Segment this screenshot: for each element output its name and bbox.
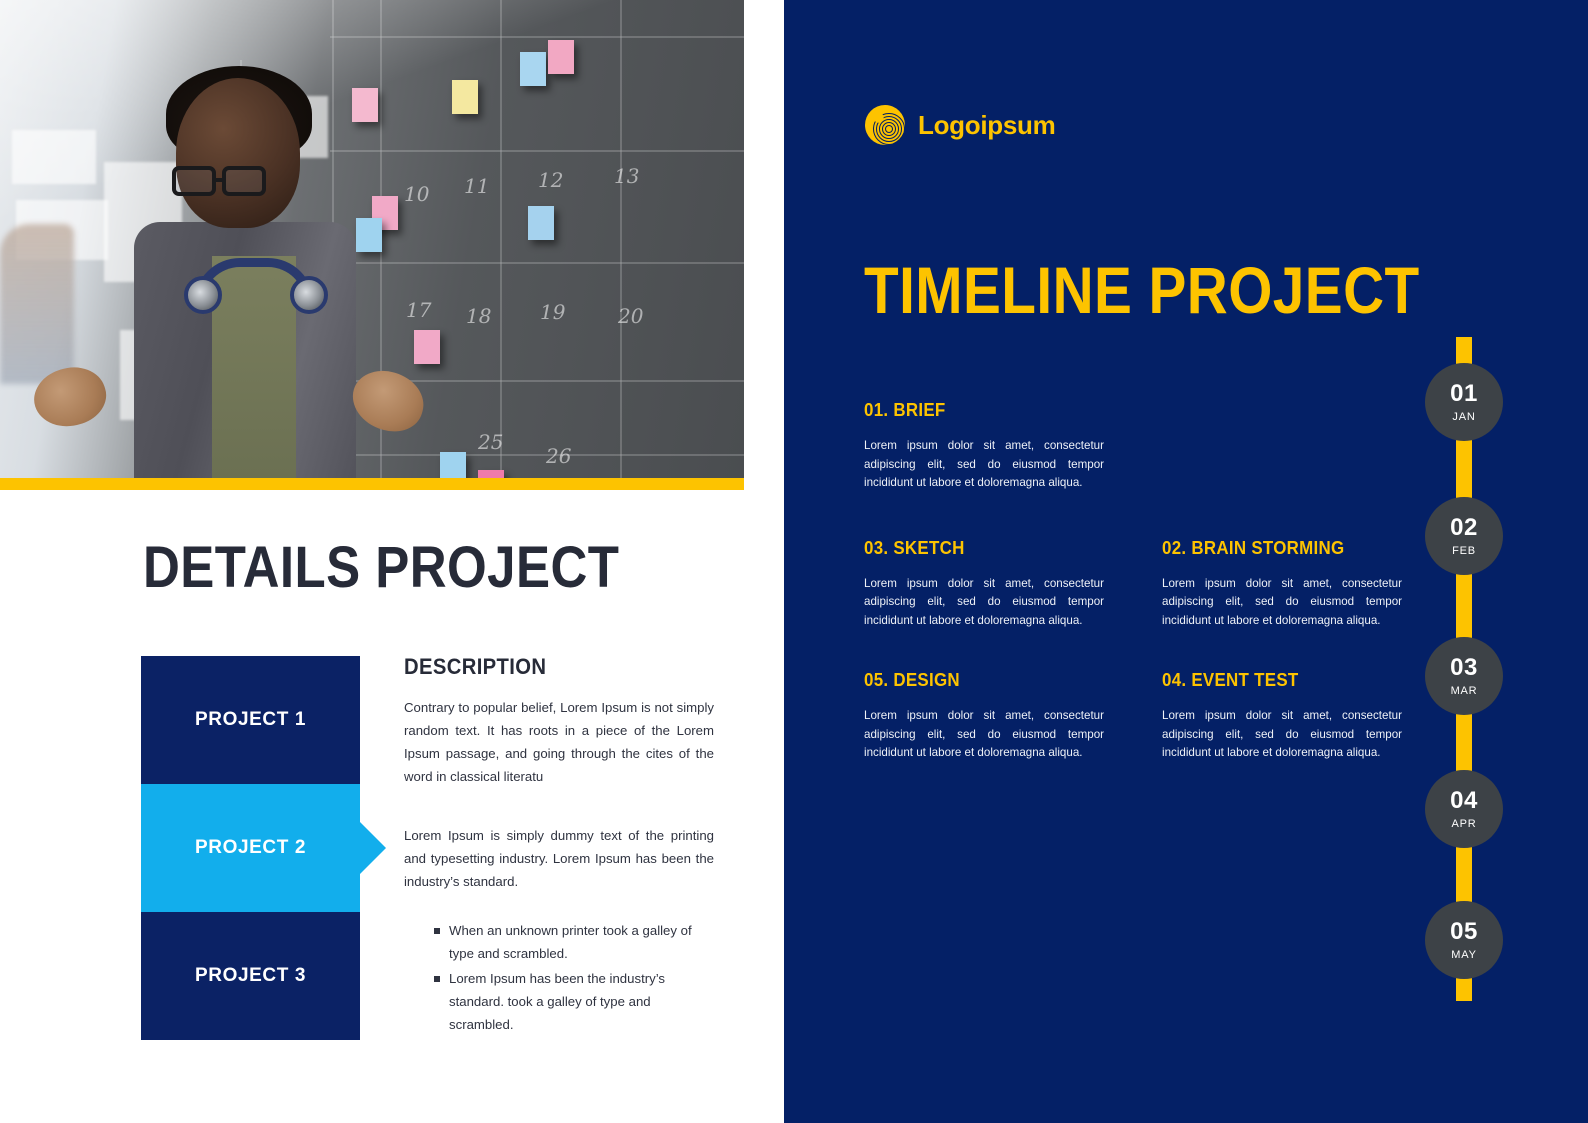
project-item-3[interactable]: PROJECT 3 (141, 912, 360, 1040)
milestone-01[interactable]: 01 JAN (1425, 363, 1503, 441)
milestone-month: FEB (1452, 545, 1476, 557)
glasses-icon (172, 166, 216, 196)
sticky-note (478, 470, 504, 478)
slide-title: TIMELINE PROJECT (864, 252, 1420, 328)
description-paragraph-2: Lorem Ipsum is simply dummy text of the … (404, 824, 714, 893)
phase-title: 03. SKETCH (864, 538, 1090, 559)
sticky-note (414, 330, 440, 364)
phase-title: 02. BRAIN STORMING (1162, 538, 1388, 559)
headphone-earcup (290, 276, 328, 314)
milestone-number: 05 (1450, 920, 1478, 944)
phase-body: Lorem ipsum dolor sit amet, consectetur … (1162, 707, 1402, 763)
slide-canvas: 10 11 12 13 17 18 19 20 25 26 (0, 0, 1588, 1123)
sticky-note (440, 452, 466, 478)
sticky-note (520, 52, 546, 86)
description-paragraph-1: Contrary to popular belief, Lorem Ipsum … (404, 696, 714, 788)
milestone-month: MAR (1451, 685, 1478, 697)
milestone-number: 01 (1450, 382, 1478, 406)
phase-body: Lorem ipsum dolor sit amet, consectetur … (864, 437, 1104, 493)
sticky-note (548, 40, 574, 74)
phase-card-sketch: 03. SKETCH Lorem ipsum dolor sit amet, c… (864, 538, 1104, 631)
chalk-number: 20 (618, 304, 643, 328)
milestone-number: 02 (1450, 516, 1478, 540)
milestone-month: JAN (1452, 411, 1475, 423)
project-item-label: PROJECT 3 (195, 965, 306, 987)
phase-row-design-eventtest: 05. DESIGN Lorem ipsum dolor sit amet, c… (864, 670, 1404, 763)
project-item-2[interactable]: PROJECT 2 (141, 784, 360, 912)
phase-title: 05. DESIGN (864, 670, 1090, 691)
phase-card-brief: 01. BRIEF Lorem ipsum dolor sit amet, co… (864, 400, 1104, 493)
brand-logo[interactable]: Logoipsum (864, 104, 1055, 146)
project-item-1[interactable]: PROJECT 1 (141, 656, 360, 784)
sticky-note (352, 88, 378, 122)
page-title: DETAILS PROJECT (143, 534, 619, 601)
chalk-number: 10 (404, 182, 429, 206)
chalk-number: 26 (546, 444, 571, 468)
chalk-number: 18 (466, 304, 491, 328)
list-item: When an unknown printer took a galley of… (434, 919, 714, 965)
phase-row-sketch-brainstorming: 03. SKETCH Lorem ipsum dolor sit amet, c… (864, 538, 1404, 631)
milestone-04[interactable]: 04 APR (1425, 770, 1503, 848)
phase-body: Lorem ipsum dolor sit amet, consectetur … (1162, 575, 1402, 631)
chalk-number: 19 (540, 300, 565, 324)
chalk-number: 11 (464, 174, 489, 198)
project-item-label: PROJECT 2 (195, 837, 306, 859)
project-item-label: PROJECT 1 (195, 709, 306, 731)
sticky-note (356, 218, 382, 252)
milestone-number: 04 (1450, 789, 1478, 813)
description-heading: DESCRIPTION (404, 654, 689, 680)
phase-row-brief: 01. BRIEF Lorem ipsum dolor sit amet, co… (864, 400, 1404, 493)
milestone-number: 03 (1450, 656, 1478, 680)
hero-photo: 10 11 12 13 17 18 19 20 25 26 (0, 0, 744, 478)
description-panel: DESCRIPTION Contrary to popular belief, … (404, 654, 714, 1038)
milestone-03[interactable]: 03 MAR (1425, 637, 1503, 715)
sticky-note (528, 206, 554, 240)
background-person (0, 224, 74, 384)
phase-title: 04. EVENT TEST (1162, 670, 1388, 691)
brand-logo-text: Logoipsum (918, 110, 1055, 141)
phase-grid: 01. BRIEF Lorem ipsum dolor sit amet, co… (864, 400, 1404, 763)
phase-card-design: 05. DESIGN Lorem ipsum dolor sit amet, c… (864, 670, 1104, 763)
milestone-month: APR (1451, 818, 1476, 830)
chalk-number: 25 (478, 430, 503, 454)
glasses-bridge (215, 178, 225, 182)
accent-bar (0, 478, 744, 490)
chalk-number: 12 (538, 168, 563, 192)
headphone-earcup (184, 276, 222, 314)
milestone-02[interactable]: 02 FEB (1425, 497, 1503, 575)
left-panel: 10 11 12 13 17 18 19 20 25 26 (0, 0, 784, 1123)
chalk-number: 17 (406, 298, 431, 322)
glasses-icon (222, 166, 266, 196)
phase-body: Lorem ipsum dolor sit amet, consectetur … (864, 575, 1104, 631)
milestone-month: MAY (1451, 949, 1476, 961)
spiral-circle-logo-icon (864, 104, 906, 146)
phase-body: Lorem ipsum dolor sit amet, consectetur … (864, 707, 1104, 763)
chalk-number: 13 (614, 164, 639, 188)
project-list: PROJECT 1 PROJECT 2 PROJECT 3 (141, 656, 360, 1040)
phase-title: 01. BRIEF (864, 400, 1090, 421)
milestone-05[interactable]: 05 MAY (1425, 901, 1503, 979)
wall-paper-sheet (12, 130, 96, 184)
description-bullet-list: When an unknown printer took a galley of… (434, 919, 714, 1036)
phase-card-event-test: 04. EVENT TEST Lorem ipsum dolor sit ame… (1162, 670, 1402, 763)
list-item: Lorem Ipsum has been the industry’s stan… (434, 967, 714, 1036)
sticky-note (452, 80, 478, 114)
person-head (176, 78, 300, 228)
phase-card-brain-storming: 02. BRAIN STORMING Lorem ipsum dolor sit… (1162, 538, 1402, 631)
